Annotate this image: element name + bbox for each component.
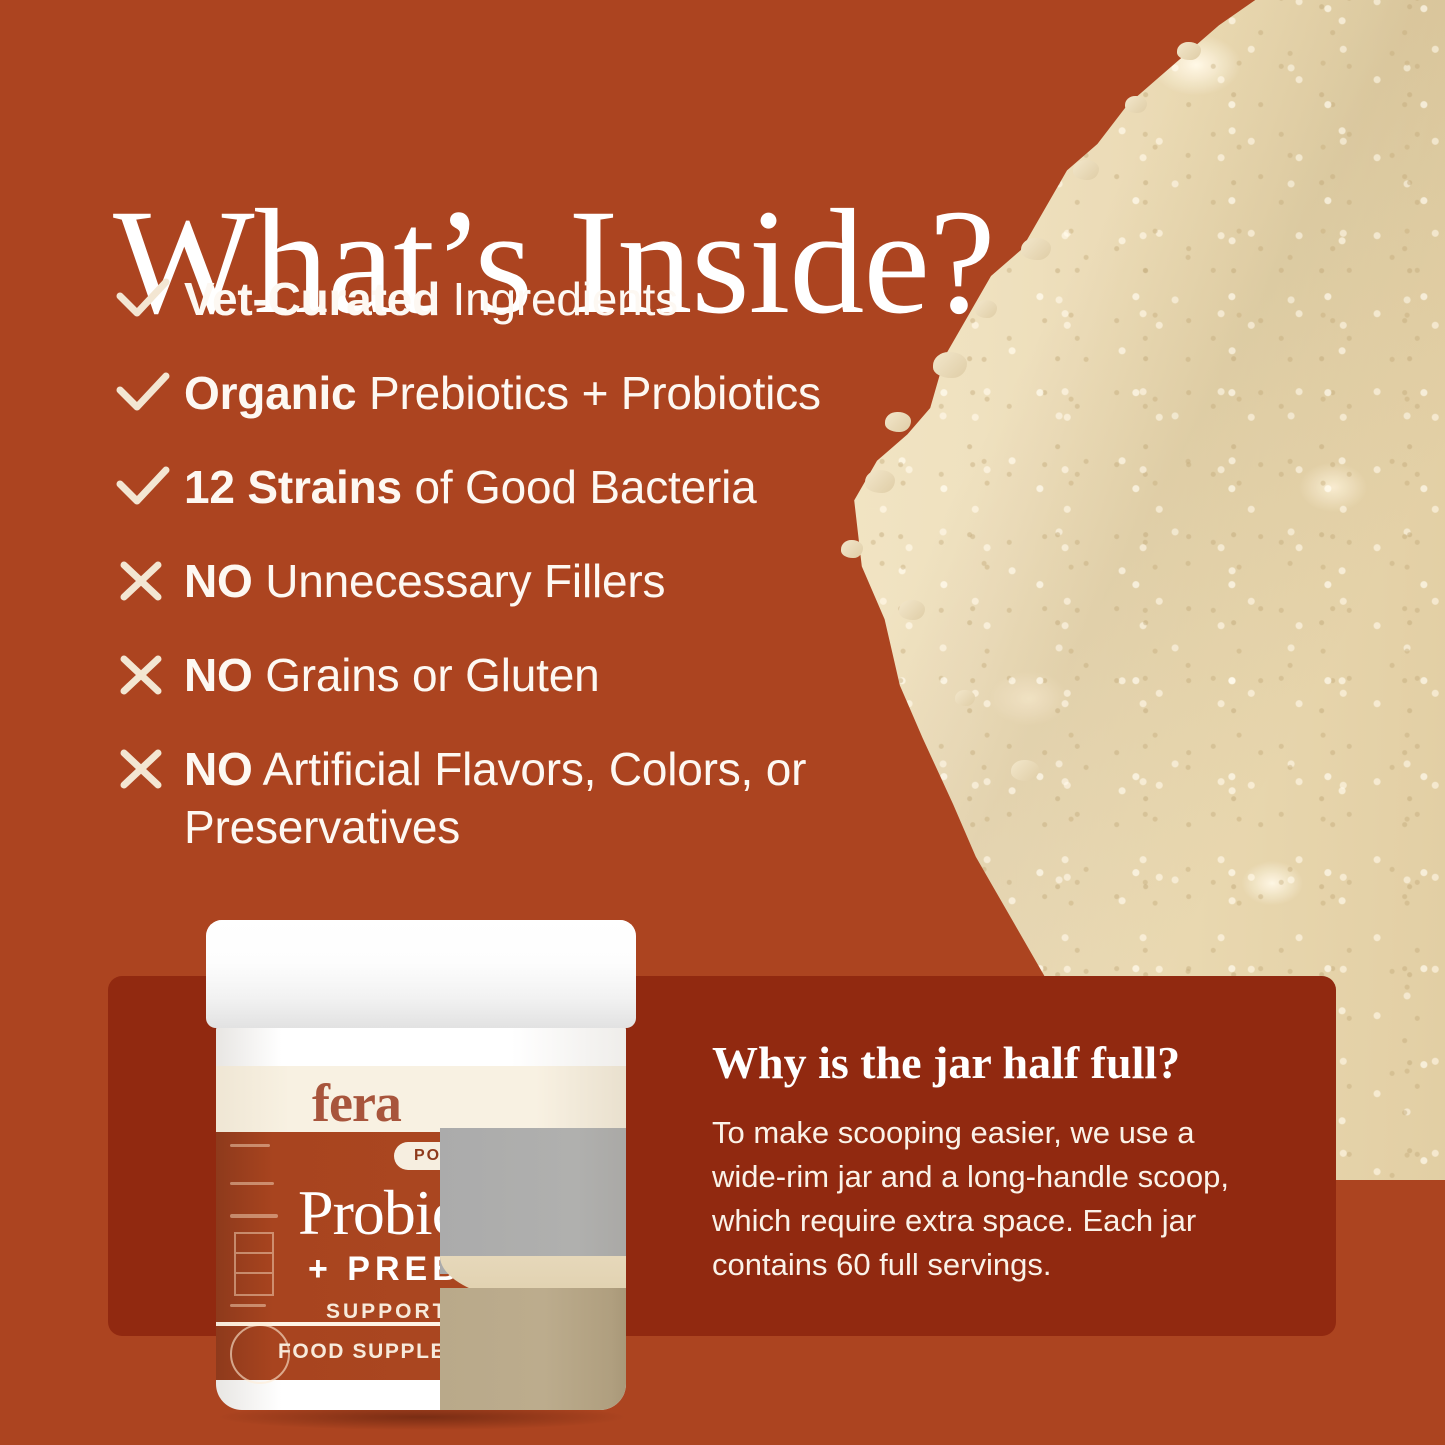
jar-side-line: [230, 1144, 270, 1147]
jar-side-line: [230, 1214, 278, 1218]
list-item-lead: NO: [184, 555, 253, 607]
list-item-text: NO Artificial Flavors, Colors, or Preser…: [184, 740, 924, 856]
list-item-text: 12 Strains of Good Bacteria: [184, 458, 757, 516]
check-icon: [110, 276, 184, 326]
powder-crumb: [1011, 760, 1039, 781]
cross-icon: [110, 558, 184, 608]
info-card-copy: Why is the jar half full? To make scoopi…: [712, 1038, 1272, 1287]
list-item-lead: NO: [184, 649, 253, 701]
list-item-lead: 12 Strains: [184, 461, 402, 513]
jar-label-cream-band: [216, 1066, 626, 1132]
cross-icon: [110, 652, 184, 702]
list-item: NO Unnecessary Fillers: [110, 552, 990, 610]
list-item-text: NO Unnecessary Fillers: [184, 552, 665, 610]
powder-crumb: [1021, 238, 1051, 260]
check-icon: [110, 370, 184, 420]
powder-crumb: [1073, 160, 1099, 180]
powder-crumb: [1125, 96, 1147, 113]
list-item: Vet-Curated Ingredients: [110, 270, 990, 328]
list-item-rest: Prebiotics + Probiotics: [356, 367, 820, 419]
cross-icon: [110, 746, 184, 796]
list-item: NO Grains or Gluten: [110, 646, 990, 704]
list-item: NO Artificial Flavors, Colors, or Preser…: [110, 740, 990, 856]
list-item-rest: Artificial Flavors, Colors, or Preservat…: [184, 743, 806, 853]
list-item-rest: Unnecessary Fillers: [253, 555, 666, 607]
list-item: 12 Strains of Good Bacteria: [110, 458, 990, 516]
jar-cutaway: [440, 1128, 626, 1410]
list-item-text: Vet-Curated Ingredients: [184, 270, 678, 328]
list-item-lead: Vet-Curated: [184, 273, 440, 325]
info-card-title: Why is the jar half full?: [712, 1038, 1272, 1089]
powder-fill-level: [440, 1288, 626, 1410]
list-item-lead: Organic: [184, 367, 356, 419]
jar-lid: [206, 920, 636, 1028]
feature-list: Vet-Curated Ingredients Organic Prebioti…: [110, 270, 990, 856]
list-item: Organic Prebiotics + Probiotics: [110, 364, 990, 422]
jar-side-line: [230, 1182, 274, 1185]
infographic-root: What’s Inside? Vet-Curated Ingredients O…: [0, 0, 1445, 1445]
check-icon: [110, 464, 184, 514]
brand-logo: fera: [312, 1072, 401, 1134]
jar-side-panel: [226, 1136, 278, 1332]
list-item-rest: Ingredients: [440, 273, 678, 325]
jar-side-table: [234, 1232, 274, 1296]
list-item-lead: NO: [184, 743, 253, 795]
list-item-text: Organic Prebiotics + Probiotics: [184, 364, 821, 422]
product-jar-image: fera POWDER Probiotic + PREBIOTIC SUPPOR…: [196, 920, 646, 1420]
jar-empty-space: [440, 1128, 626, 1274]
jar-side-line: [230, 1304, 266, 1307]
list-item-rest: Grains or Gluten: [253, 649, 600, 701]
list-item-rest: of Good Bacteria: [402, 461, 757, 513]
info-card-body: To make scooping easier, we use a wide-r…: [712, 1111, 1272, 1287]
powder-crumb: [1177, 42, 1201, 60]
jar-body: fera POWDER Probiotic + PREBIOTIC SUPPOR…: [216, 1024, 626, 1410]
list-item-text: NO Grains or Gluten: [184, 646, 599, 704]
